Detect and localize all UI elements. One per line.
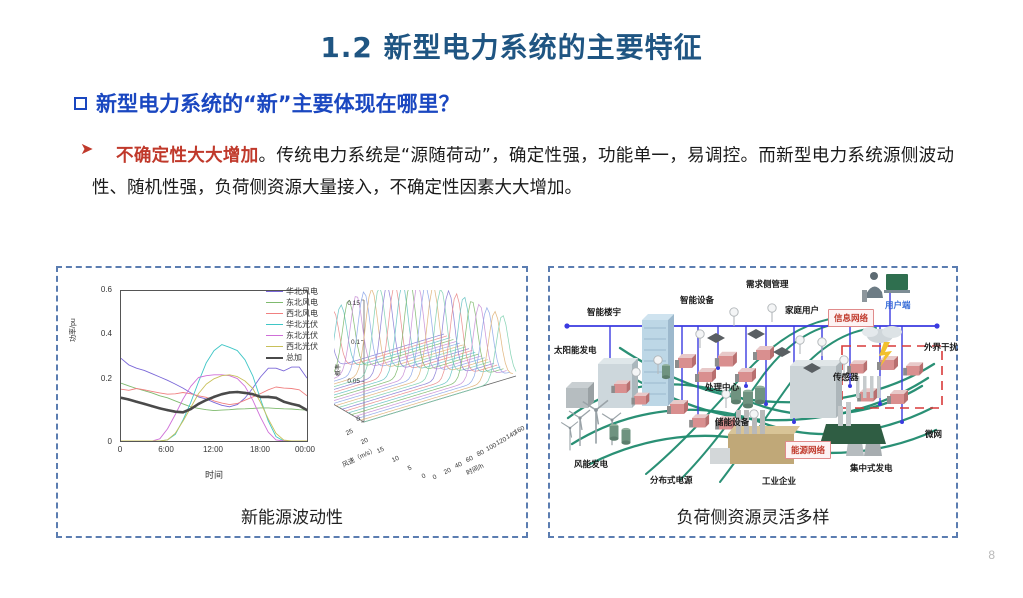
chart2d-marker — [205, 399, 207, 401]
chart2d-ytick-2: 0.4 — [72, 329, 112, 338]
diagram-label-6: 外界干扰 — [924, 341, 958, 353]
diagram-label-14: 分布式电源 — [650, 474, 693, 486]
diagram-label-1: 智能设备 — [680, 294, 714, 306]
diagram-label-10: 储能设备 — [715, 416, 749, 428]
chart2d-legend-swatch — [266, 313, 283, 314]
storage-tank-5-base — [622, 440, 631, 444]
subheading: 新型电力系统的“新”主要体现在哪里？ — [74, 88, 460, 118]
info-drop-node-4 — [716, 366, 720, 370]
transformer-2-front — [718, 356, 733, 367]
slide-root: 1.2 新型电力系统的主要特征 新型电力系统的“新”主要体现在哪里？ ➤ 不确定… — [0, 0, 1023, 598]
chart2d-marker — [197, 403, 199, 405]
transformer-11-front — [906, 366, 919, 376]
chart2d-legend-swatch — [266, 324, 283, 325]
chart2d-marker — [190, 408, 192, 410]
wind-turbine-1-hub — [578, 416, 581, 419]
chart2d-marker — [174, 410, 176, 412]
chart2d-series-5 — [121, 375, 307, 441]
chart2d-xtick-0: 0 — [100, 445, 140, 454]
diagram-label-4: 用户端 — [885, 299, 911, 311]
chart2d-ytick-3: 0.6 — [72, 285, 112, 294]
chart2d-legend-label: 东北风电 — [286, 297, 318, 308]
info-bus-endpoint-right — [934, 323, 939, 328]
panel-new-energy-fluctuation: 功率/pu 0.6 0.4 0.2 0 0 6:00 12:00 18:00 0… — [56, 266, 528, 538]
transformer-13-cabinet — [887, 396, 891, 404]
chart2d-xtick-1: 6:00 — [146, 445, 186, 454]
transformer-0-front — [678, 358, 692, 368]
chart2d-xtick-2: 12:00 — [193, 445, 233, 454]
sensor-gauge-icon-5 — [654, 356, 662, 364]
chart2d-legend-label: 西北光伏 — [286, 341, 318, 352]
chart2d-legend-label: 华北光伏 — [286, 319, 318, 330]
diagram-label-0: 智能楼宇 — [587, 306, 621, 318]
chart2d-legend-item-3: 华北光伏 — [266, 319, 318, 330]
sensor-gauge-icon-4 — [818, 338, 826, 346]
page-title: 1.2 新型电力系统的主要特征 — [0, 26, 1023, 66]
info-drop-node-9 — [848, 384, 852, 388]
plant-stack-1 — [838, 406, 843, 426]
storage-tank-3-base — [755, 400, 765, 405]
transformer-10-cabinet — [877, 362, 881, 370]
chart2d-marker — [135, 401, 137, 403]
diagram-label-2: 需求侧管理 — [746, 278, 789, 290]
chart2d-marker — [228, 391, 230, 393]
sensor-gauge-icon-1 — [730, 308, 738, 316]
paragraph-block: ➤ 不确定性大大增加。传统电力系统是“源随荷动”，确定性强，功能单一，易调控。而… — [92, 140, 954, 205]
chart2d-series-4 — [121, 375, 307, 441]
sensor-gauge-icon-6 — [632, 368, 640, 376]
diagram-label-8: 传感器 — [833, 371, 859, 383]
subheading-label: 新型电力系统的“新”主要体现在哪里？ — [96, 88, 460, 118]
router-node-0 — [707, 333, 725, 343]
office-block-top — [790, 360, 842, 366]
panel-load-side-resources: 智能楼宇智能设备需求侧管理家庭用户用户端信息网络外界干扰太阳能发电传感器处理中心… — [548, 266, 958, 538]
chart2d-marker — [259, 396, 261, 398]
storage-tank-4-base — [610, 436, 619, 440]
chart3d-ztick-0: 0 — [334, 416, 360, 423]
user-terminal-desk — [884, 290, 910, 293]
chart-wind-speed-distribution: 概率 0.15 0.1 0.05 0 25 20 15 10 5 0 风速（m/… — [334, 290, 519, 486]
chart3d-ztick-1: 0.05 — [334, 378, 360, 385]
info-drop-node-10 — [878, 402, 882, 406]
info-drop-node-7 — [792, 420, 796, 424]
chart2d-legend-swatch — [266, 357, 283, 359]
diagram-label-5: 信息网络 — [828, 309, 874, 327]
transformer-6-front — [692, 418, 705, 428]
transformer-10-front — [880, 360, 894, 370]
right-panel-caption: 负荷侧资源灵活多样 — [550, 503, 956, 528]
chart-power-curves: 功率/pu 0.6 0.4 0.2 0 0 6:00 12:00 18:00 0… — [72, 280, 322, 495]
chart2d-marker — [159, 407, 161, 409]
chart2d-marker — [275, 397, 277, 399]
left-panel-caption: 新能源波动性 — [58, 503, 526, 528]
chart2d-x-axis-label: 时间 — [120, 468, 308, 481]
transformer-6-cabinet — [689, 420, 693, 428]
chart2d-legend-item-5: 西北光伏 — [266, 341, 318, 352]
chart2d-xtick-3: 18:00 — [240, 445, 280, 454]
chart2d-marker — [252, 393, 254, 395]
chart2d-marker — [143, 403, 145, 405]
info-drop-node-5 — [744, 384, 748, 388]
chart2d-legend-item-1: 东北风电 — [266, 297, 318, 308]
factory-annex — [710, 448, 730, 464]
chart2d-marker — [221, 393, 223, 395]
diagram-label-3: 家庭用户 — [785, 304, 819, 316]
chart2d-legend-item-2: 西北风电 — [266, 308, 318, 319]
diagram-label-13: 风能发电 — [574, 458, 608, 470]
user-body-icon — [865, 286, 883, 298]
diagram-label-15: 工业企业 — [762, 475, 796, 487]
hollow-square-bullet-icon — [74, 97, 87, 110]
paragraph-text: 不确定性大大增加。传统电力系统是“源随荷动”，确定性强，功能单一，易调控。而新型… — [92, 140, 954, 205]
sensor-gauge-icon-9 — [750, 410, 758, 418]
storm-cloud-b — [882, 326, 902, 338]
user-head-icon — [870, 272, 878, 280]
transformer-5-front — [670, 404, 684, 414]
diagram-label-9: 处理中心 — [705, 381, 739, 393]
sensor-gauge-icon-3 — [796, 336, 804, 344]
page-number: 8 — [988, 548, 995, 562]
storage-tank-6-base — [662, 375, 670, 379]
smart-building-side — [668, 314, 674, 406]
grid-diagram: 智能楼宇智能设备需求侧管理家庭用户用户端信息网络外界干扰太阳能发电传感器处理中心… — [550, 268, 956, 504]
chart2d-legend-label: 华北风电 — [286, 286, 318, 297]
transformer-15-front — [634, 396, 646, 405]
sensor-gauge-icon-2 — [768, 304, 776, 312]
wind-turbine-4-hub — [569, 427, 572, 430]
chart2d-legend-item-4: 东北光伏 — [266, 330, 318, 341]
solar-building-top — [598, 358, 638, 364]
transformer-5-cabinet — [667, 406, 671, 414]
wind-turbine-4-blade-1 — [561, 422, 570, 428]
router-node-1 — [747, 329, 765, 339]
chart2d-marker — [182, 411, 184, 413]
wind-turbine-1-blade-2 — [580, 410, 590, 418]
microgrid-stack-1 — [863, 376, 867, 398]
transformer-11-cabinet — [903, 368, 907, 376]
microgrid-stack-3 — [877, 376, 881, 398]
chart2d-legend-label: 总加 — [286, 352, 302, 363]
transformer-3-front — [738, 372, 752, 382]
chart2d-marker — [213, 396, 215, 398]
chart2d-xtick-4: 00:00 — [285, 445, 325, 454]
storage-tank-1-base — [731, 400, 741, 405]
chart2d-legend-item-0: 华北风电 — [266, 286, 318, 297]
industrial-box-front — [566, 388, 588, 408]
chart2d-legend-swatch — [266, 291, 283, 292]
info-drop-node-11 — [900, 420, 904, 424]
wind-turbine-3-hub — [611, 419, 614, 422]
chart2d-legend-item-6: 总加 — [266, 352, 318, 363]
wind-turbine-4-blade-2 — [570, 422, 578, 428]
transformer-14-front — [614, 384, 627, 393]
transformer-1-cabinet — [695, 374, 699, 382]
transformer-13-front — [890, 394, 904, 404]
sensor-gauge-icon-0 — [696, 330, 704, 338]
wind-turbine-2-hub — [594, 408, 598, 412]
user-chair-icon — [862, 290, 867, 302]
transformer-14-cabinet — [611, 386, 615, 393]
diagram-label-7: 太阳能发电 — [554, 344, 597, 356]
chart2d-legend-swatch — [266, 335, 283, 336]
microgrid-stack-2 — [870, 376, 874, 398]
info-bus-endpoint-left — [564, 323, 569, 328]
chart3d-ztick-3: 0.15 — [334, 300, 360, 307]
plant-stack-2 — [846, 402, 851, 426]
chart2d-marker — [267, 396, 269, 398]
chart2d-ytick-1: 0.2 — [72, 374, 112, 383]
chart2d-legend-label: 东北光伏 — [286, 330, 318, 341]
transformer-4-front — [756, 350, 770, 360]
chart2d-marker — [128, 398, 130, 400]
chart2d-legend: 华北风电东北风电西北风电华北光伏东北光伏西北光伏总加 — [266, 286, 318, 363]
transformer-4-cabinet — [753, 352, 757, 360]
transformer-2-cabinet — [715, 358, 719, 366]
transformer-0-cabinet — [675, 360, 679, 368]
chart3d-z-axis-label: 概率 — [333, 364, 342, 376]
chart2d-legend-label: 西北风电 — [286, 308, 318, 319]
transformer-15-cabinet — [631, 398, 634, 405]
chart2d-marker — [290, 403, 292, 405]
wind-turbine-3-blade-1 — [602, 414, 612, 420]
user-terminal-screen — [886, 274, 908, 290]
chart2d-marker — [236, 391, 238, 393]
chart2d-marker — [166, 409, 168, 411]
sensor-gauge-icon-7 — [840, 356, 848, 364]
diagram-label-16: 集中式发电 — [850, 462, 893, 474]
chart2d-marker — [298, 405, 300, 407]
chart2d-marker — [283, 401, 285, 403]
chart2d-marker — [244, 392, 246, 394]
office-block-front — [790, 366, 836, 418]
storm-cloud-c — [862, 327, 878, 337]
chart2d-marker — [151, 405, 153, 407]
factory-chimney-3 — [760, 410, 765, 434]
chart2d-legend-swatch — [266, 302, 283, 303]
wind-turbine-3-blade-2 — [612, 413, 621, 420]
chart2d-legend-swatch — [266, 346, 283, 347]
storage-tank-2-base — [743, 404, 753, 409]
diagram-label-11: 能源网络 — [785, 441, 831, 459]
red-arrow-bullet-icon: ➤ — [80, 142, 93, 158]
diagram-label-12: 微网 — [925, 428, 942, 440]
paragraph-highlight: 不确定性大大增加 — [116, 146, 259, 166]
chart3d-ztick-2: 0.1 — [334, 339, 360, 346]
